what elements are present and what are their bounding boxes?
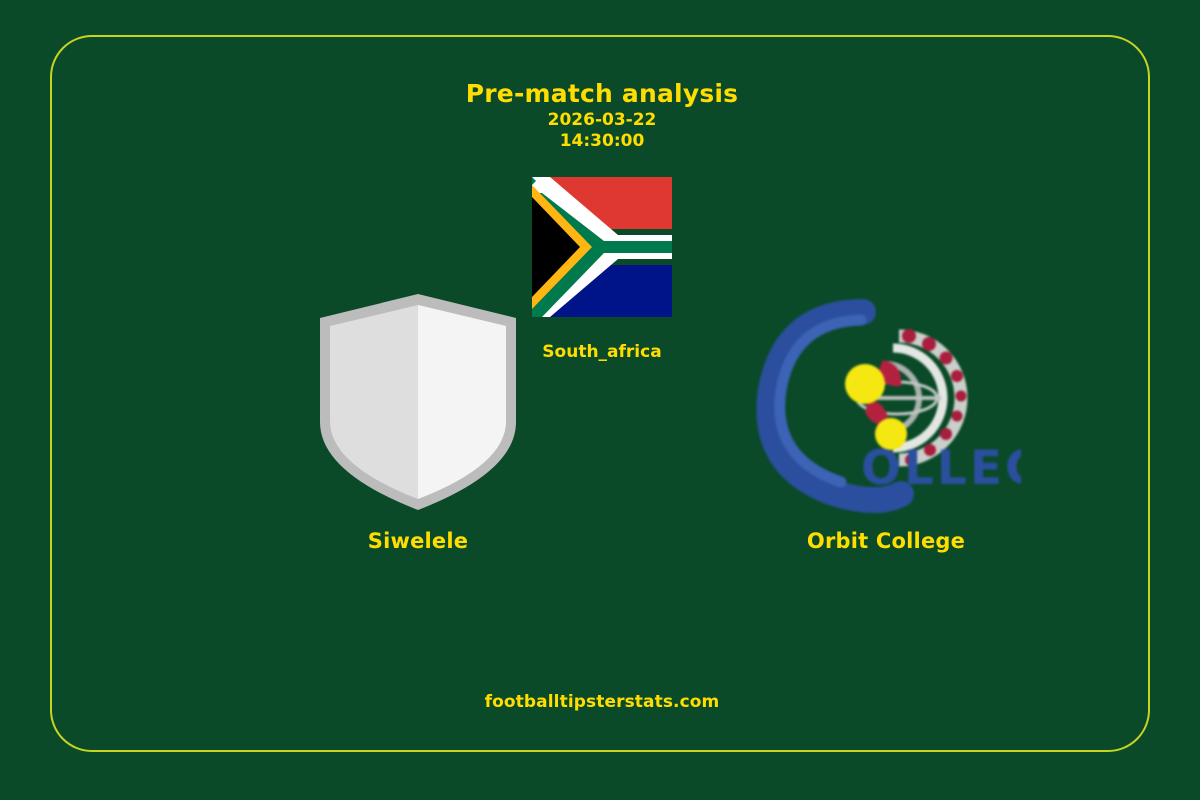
away-crest-wrap: OLLEGE bbox=[736, 290, 1036, 520]
home-team-block: Siwelele bbox=[268, 290, 568, 553]
match-preview-card: Pre-match analysis 2026-03-22 14:30:00 bbox=[50, 35, 1150, 752]
site-url: footballtipsterstats.com bbox=[52, 692, 1152, 712]
footer: footballtipsterstats.com bbox=[52, 692, 1152, 712]
away-team-block: OLLEGE Orbit College bbox=[736, 290, 1036, 553]
match-date: 2026-03-22 bbox=[52, 110, 1152, 132]
home-crest-wrap bbox=[268, 290, 568, 520]
header: Pre-match analysis 2026-03-22 14:30:00 bbox=[52, 80, 1152, 153]
shield-placeholder-icon bbox=[316, 292, 520, 518]
orbit-college-logo-icon: OLLEGE bbox=[751, 298, 1021, 513]
home-team-name: Siwelele bbox=[268, 529, 568, 553]
page-title: Pre-match analysis bbox=[52, 80, 1152, 108]
away-team-name: Orbit College bbox=[736, 529, 1036, 553]
away-logo-text: OLLEGE bbox=[861, 441, 1021, 496]
match-time: 14:30:00 bbox=[52, 131, 1152, 153]
